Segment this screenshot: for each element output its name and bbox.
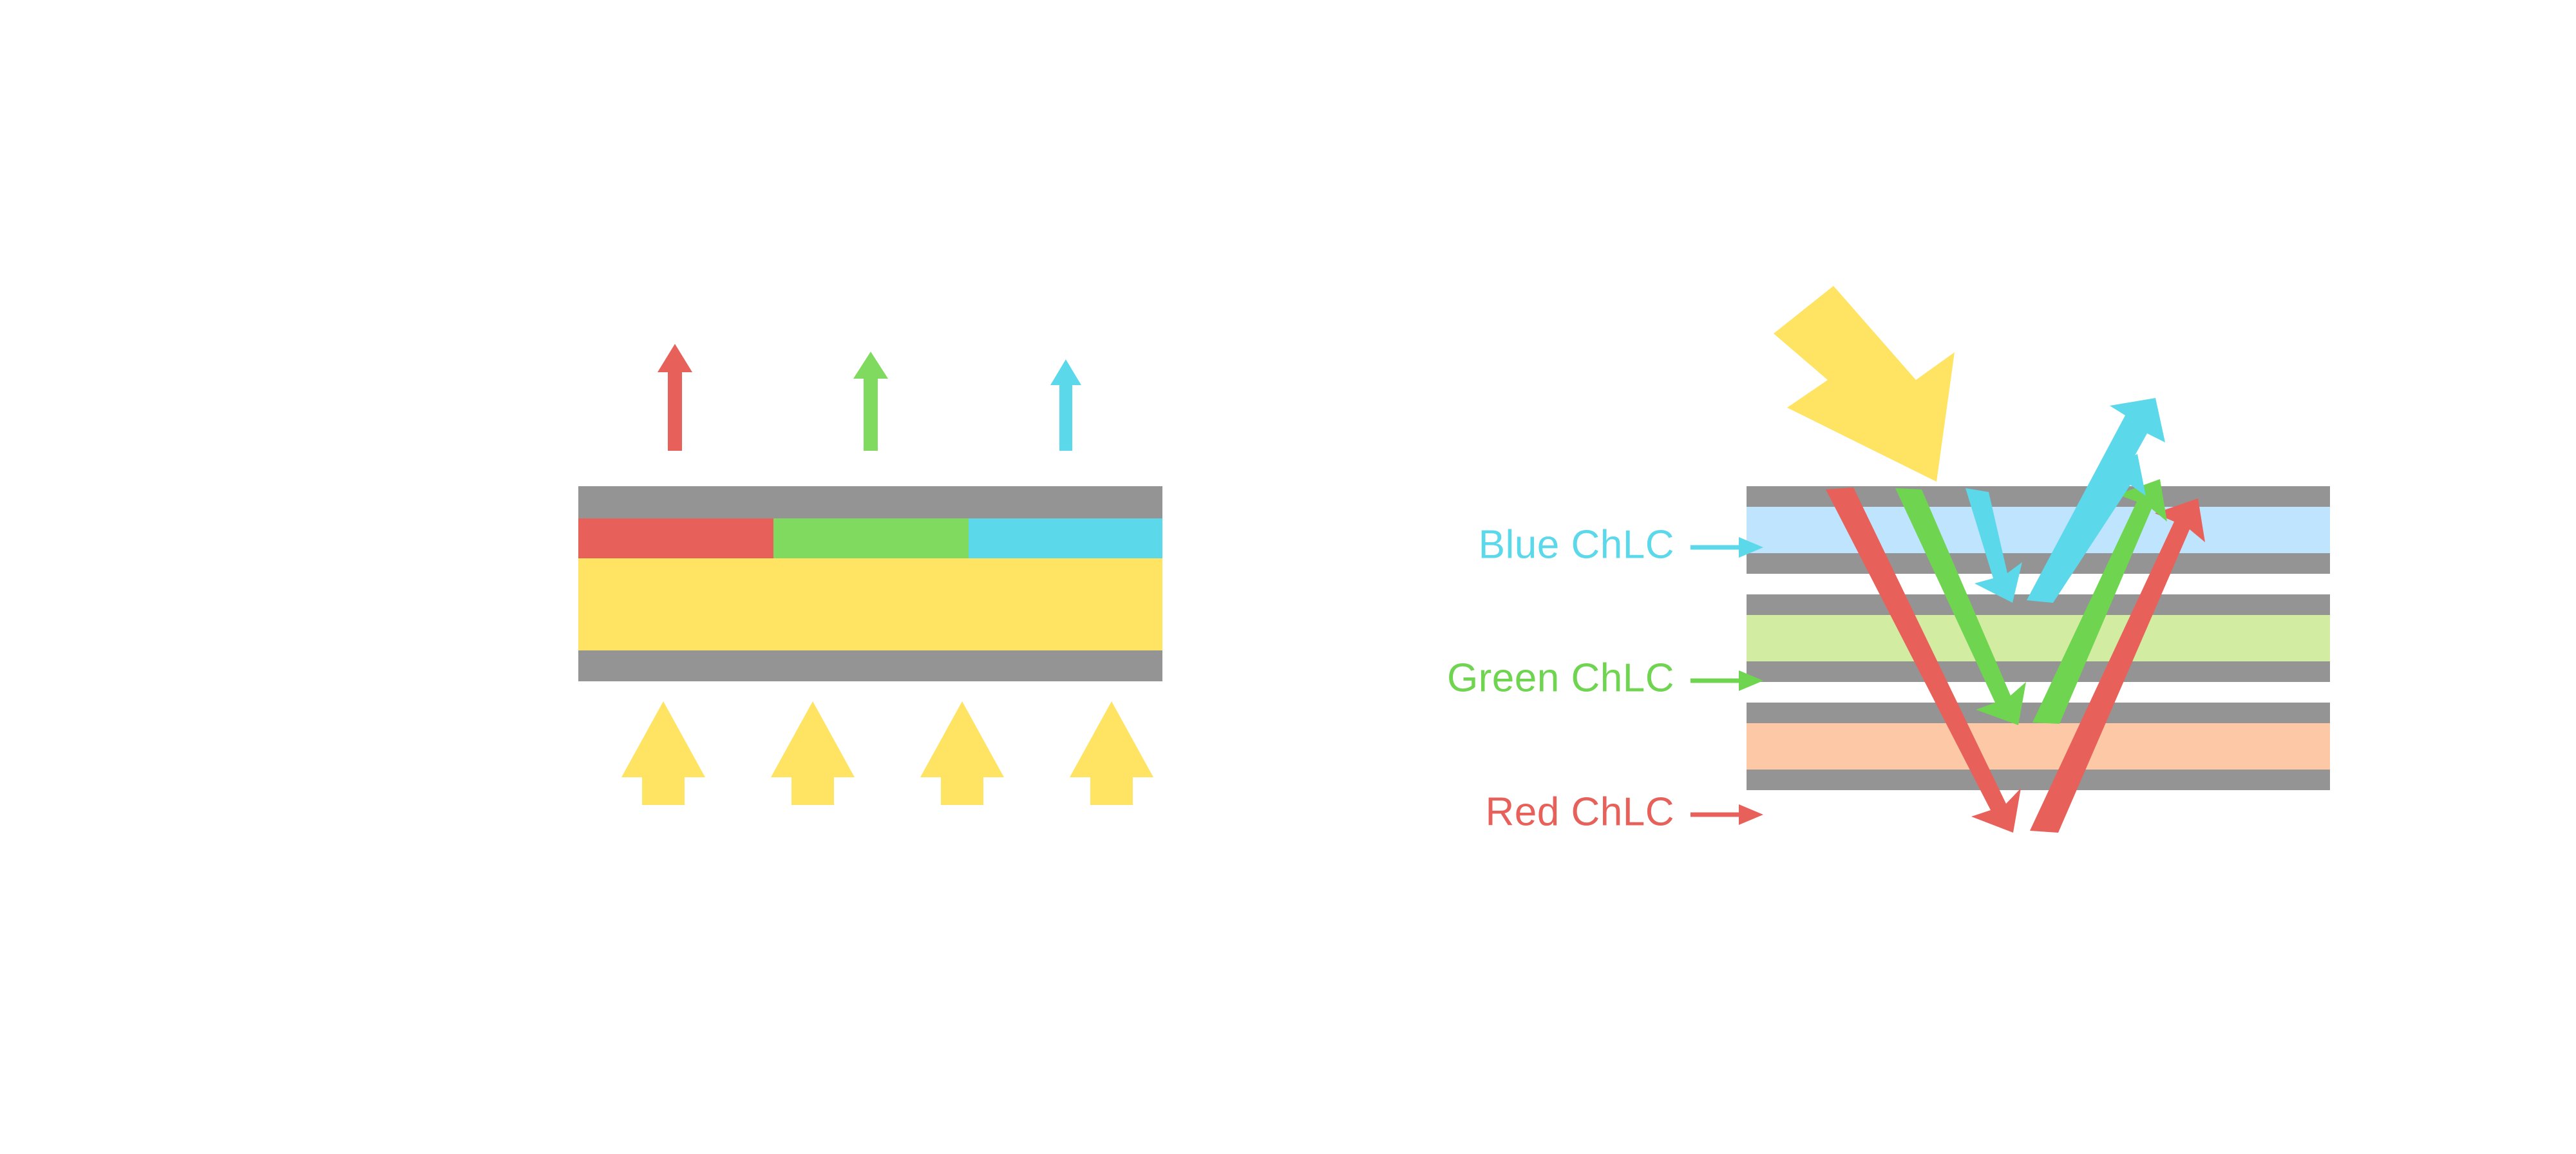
red-cell-bottom-electrode <box>1747 770 2330 790</box>
red-chlc-label: Red ChLC <box>1486 790 1674 834</box>
left-panel-stack <box>578 486 1162 681</box>
green-chlc-cell <box>1747 594 2330 682</box>
green-chlc-label: Green ChLC <box>1447 656 1674 700</box>
blue-chlc-label: Blue ChLC <box>1479 522 1674 567</box>
blue-cell-bottom-electrode <box>1747 553 2330 574</box>
diagram-root: Blue ChLC Green ChLC Red ChLC <box>0 0 2576 1154</box>
blue-chlc-layer <box>1747 507 2330 553</box>
blue-segment <box>969 518 1162 558</box>
canvas-background <box>0 0 2576 1154</box>
green-chlc-layer <box>1747 615 2330 661</box>
red-segment <box>578 518 773 558</box>
green-cell-bottom-electrode <box>1747 661 2330 682</box>
backlight-layer <box>578 558 1162 650</box>
top-electrode <box>578 486 1162 518</box>
bottom-electrode <box>578 650 1162 681</box>
chlc-diagram-svg: Blue ChLC Green ChLC Red ChLC <box>0 0 2576 1154</box>
red-chlc-layer <box>1747 723 2330 770</box>
green-segment <box>773 518 969 558</box>
